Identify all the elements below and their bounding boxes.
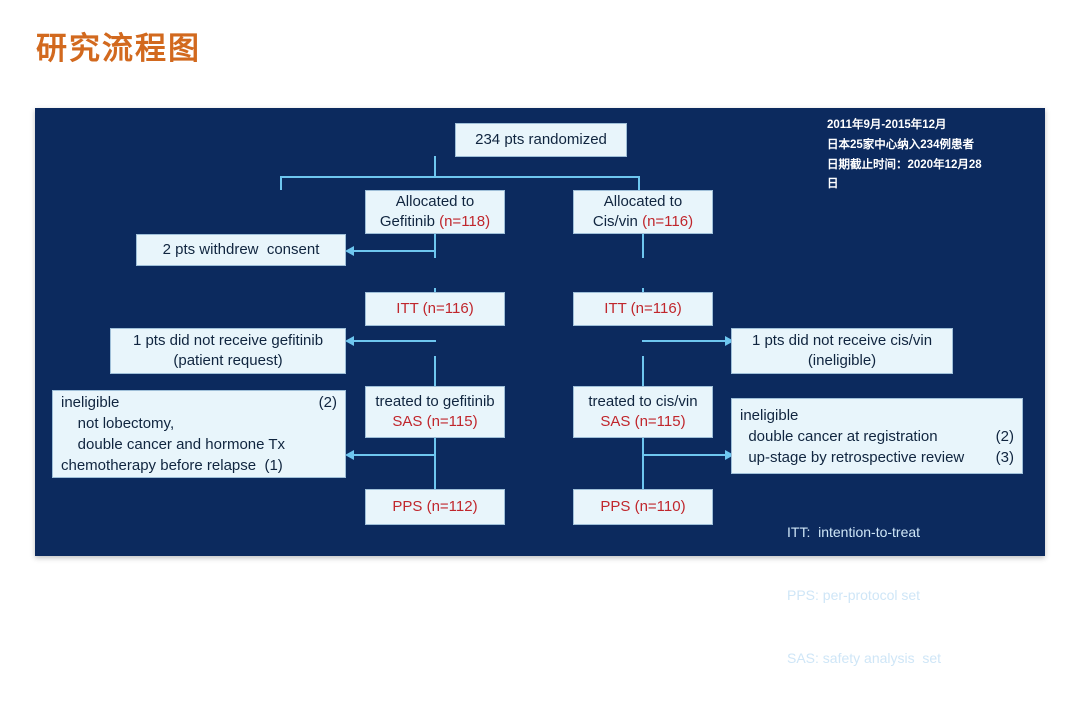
node-no-gefitinib-line-2: (patient request) bbox=[119, 351, 337, 371]
connector-no-cisvin-arrow-line bbox=[642, 340, 725, 342]
node-allocated-cisvin-line-1: Allocated to bbox=[582, 192, 704, 212]
connector-right-spine-3 bbox=[642, 356, 644, 386]
connector-split-left-leg bbox=[280, 176, 282, 190]
connector-right-spine-1 bbox=[642, 232, 644, 258]
connector-left-spine-3 bbox=[434, 356, 436, 386]
connector-ineligible-right-arrow-line bbox=[642, 454, 725, 456]
node-ineligible-cisvin-row-3: up-stage by retrospective review(3) bbox=[740, 447, 1014, 468]
node-sas-gefitinib-line-1: treated to gefitinib bbox=[374, 392, 496, 412]
node-no-gefitinib-line-1: 1 pts did not receive gefitinib bbox=[119, 331, 337, 351]
node-randomized: 234 pts randomized bbox=[455, 123, 627, 157]
connector-withdrew-arrow-line bbox=[353, 250, 436, 252]
node-allocated-gefitinib-line-2: Gefitinib (n=118) bbox=[374, 212, 496, 232]
connector-no-gefitinib-arrowhead bbox=[345, 336, 354, 346]
node-pps-cisvin: PPS (n=110) bbox=[573, 489, 713, 525]
node-sas-gefitinib: treated to gefitinib SAS (n=115) bbox=[365, 386, 505, 438]
node-pps-gefitinib-line-1: PPS (n=112) bbox=[374, 497, 496, 517]
study-note-line-4: 日 bbox=[827, 175, 1027, 195]
node-ineligible-gefitinib: ineligible(2) not lobectomy, double canc… bbox=[52, 390, 346, 478]
node-ineligible-gefitinib-row-4: chemotherapy before relapse (1) bbox=[61, 455, 337, 476]
node-ineligible-cisvin-row-2: double cancer at registration(2) bbox=[740, 426, 1014, 447]
connector-right-spine-4 bbox=[642, 438, 644, 490]
node-allocated-gefitinib-line-1: Allocated to bbox=[374, 192, 496, 212]
study-note-line-3: 日期截止时间：2020年12月28 bbox=[827, 156, 1027, 176]
page-title: 研究流程图 bbox=[36, 33, 201, 64]
node-sas-gefitinib-line-2: SAS (n=115) bbox=[374, 412, 496, 432]
node-itt-gefitinib: ITT (n=116) bbox=[365, 292, 505, 326]
node-itt-cisvin: ITT (n=116) bbox=[573, 292, 713, 326]
connector-left-spine-4 bbox=[434, 438, 436, 490]
node-no-cisvin-line-2: (ineligible) bbox=[740, 351, 944, 371]
study-note-line-1: 2011年9月-2015年12月 bbox=[827, 116, 1027, 136]
node-no-gefitinib: 1 pts did not receive gefitinib (patient… bbox=[110, 328, 346, 374]
node-withdrew-consent: 2 pts withdrew consent bbox=[136, 234, 346, 266]
legend-line-pps: PPS: per-protocol set bbox=[787, 585, 941, 606]
node-ineligible-gefitinib-row-3: double cancer and hormone Tx bbox=[61, 434, 337, 455]
node-withdrew-consent-line-1: 2 pts withdrew consent bbox=[145, 240, 337, 260]
node-allocated-gefitinib: Allocated to Gefitinib (n=118) bbox=[365, 190, 505, 234]
legend-line-itt: ITT: intention-to-treat bbox=[787, 522, 941, 543]
node-ineligible-cisvin-row-1: ineligible bbox=[740, 405, 1014, 426]
node-pps-gefitinib: PPS (n=112) bbox=[365, 489, 505, 525]
study-note-line-2: 日本25家中心纳入234例患者 bbox=[827, 136, 1027, 156]
node-pps-cisvin-line-1: PPS (n=110) bbox=[582, 497, 704, 517]
connector-withdrew-arrowhead bbox=[345, 246, 354, 256]
study-note: 2011年9月-2015年12月 日本25家中心纳入234例患者 日期截止时间：… bbox=[827, 116, 1027, 195]
connector-left-spine-1 bbox=[434, 232, 436, 258]
node-ineligible-gefitinib-row-1: ineligible(2) bbox=[61, 392, 337, 413]
node-sas-cisvin-line-1: treated to cis/vin bbox=[582, 392, 704, 412]
connector-no-gefitinib-arrow-line bbox=[353, 340, 436, 342]
node-allocated-cisvin-line-2: Cis/vin (n=116) bbox=[582, 212, 704, 232]
node-itt-gefitinib-line-1: ITT (n=116) bbox=[374, 299, 496, 319]
node-itt-cisvin-line-1: ITT (n=116) bbox=[582, 299, 704, 319]
node-no-cisvin-line-1: 1 pts did not receive cis/vin bbox=[740, 331, 944, 351]
connector-randomized-down bbox=[434, 156, 436, 178]
node-no-cisvin: 1 pts did not receive cis/vin (ineligibl… bbox=[731, 328, 953, 374]
node-sas-cisvin: treated to cis/vin SAS (n=115) bbox=[573, 386, 713, 438]
connector-split-horizontal bbox=[280, 176, 640, 178]
connector-split-right-leg bbox=[638, 176, 640, 190]
connector-ineligible-left-arrow-line bbox=[353, 454, 436, 456]
connector-ineligible-left-arrowhead bbox=[345, 450, 354, 460]
node-ineligible-cisvin: ineligible double cancer at registration… bbox=[731, 398, 1023, 474]
abbreviation-legend: ITT: intention-to-treat PPS: per-protoco… bbox=[787, 480, 941, 711]
legend-line-sas: SAS: safety analysis set bbox=[787, 648, 941, 669]
node-randomized-line-1: 234 pts randomized bbox=[464, 130, 618, 150]
node-ineligible-gefitinib-row-2: not lobectomy, bbox=[61, 413, 337, 434]
node-sas-cisvin-line-2: SAS (n=115) bbox=[582, 412, 704, 432]
flowchart-panel: 2011年9月-2015年12月 日本25家中心纳入234例患者 日期截止时间：… bbox=[35, 108, 1045, 556]
node-allocated-cisvin: Allocated to Cis/vin (n=116) bbox=[573, 190, 713, 234]
